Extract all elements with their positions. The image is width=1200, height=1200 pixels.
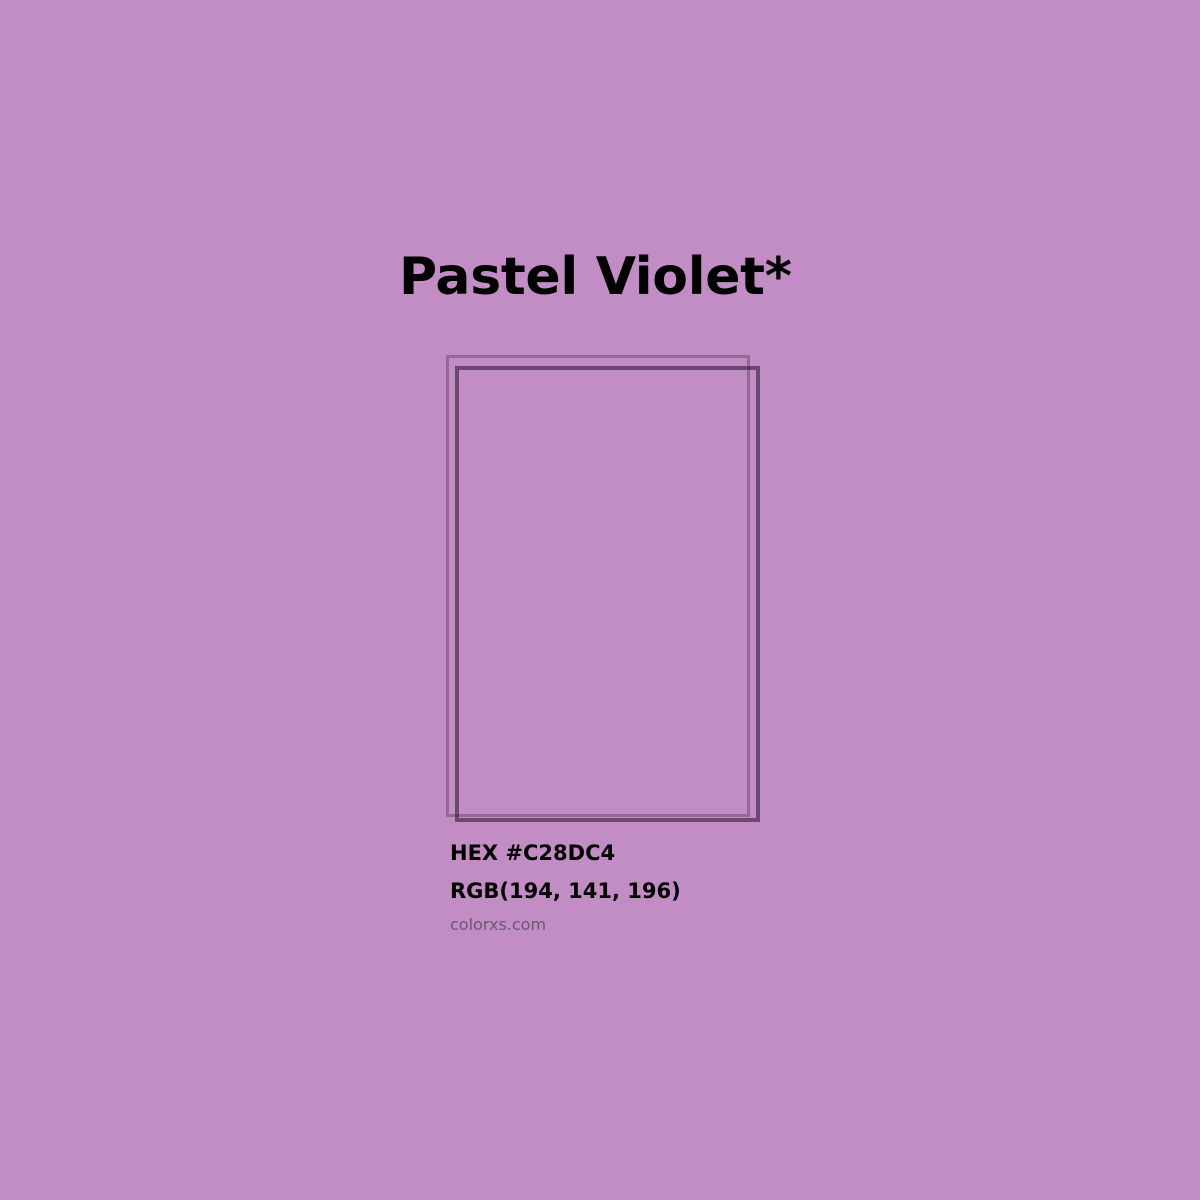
page-title: Pastel Violet* [399,246,792,308]
rgb-value-label: RGB(194, 141, 196) [450,872,950,910]
color-card: Pastel Violet* HEX #C28DC4 RGB(194, 141,… [0,0,1200,1200]
site-watermark: colorxs.com [450,910,950,936]
hex-value-label: HEX #C28DC4 [450,834,950,872]
swatch-inner-frame [455,366,760,822]
color-info-block: HEX #C28DC4 RGB(194, 141, 196) colorxs.c… [450,834,950,936]
color-swatch [440,350,770,835]
